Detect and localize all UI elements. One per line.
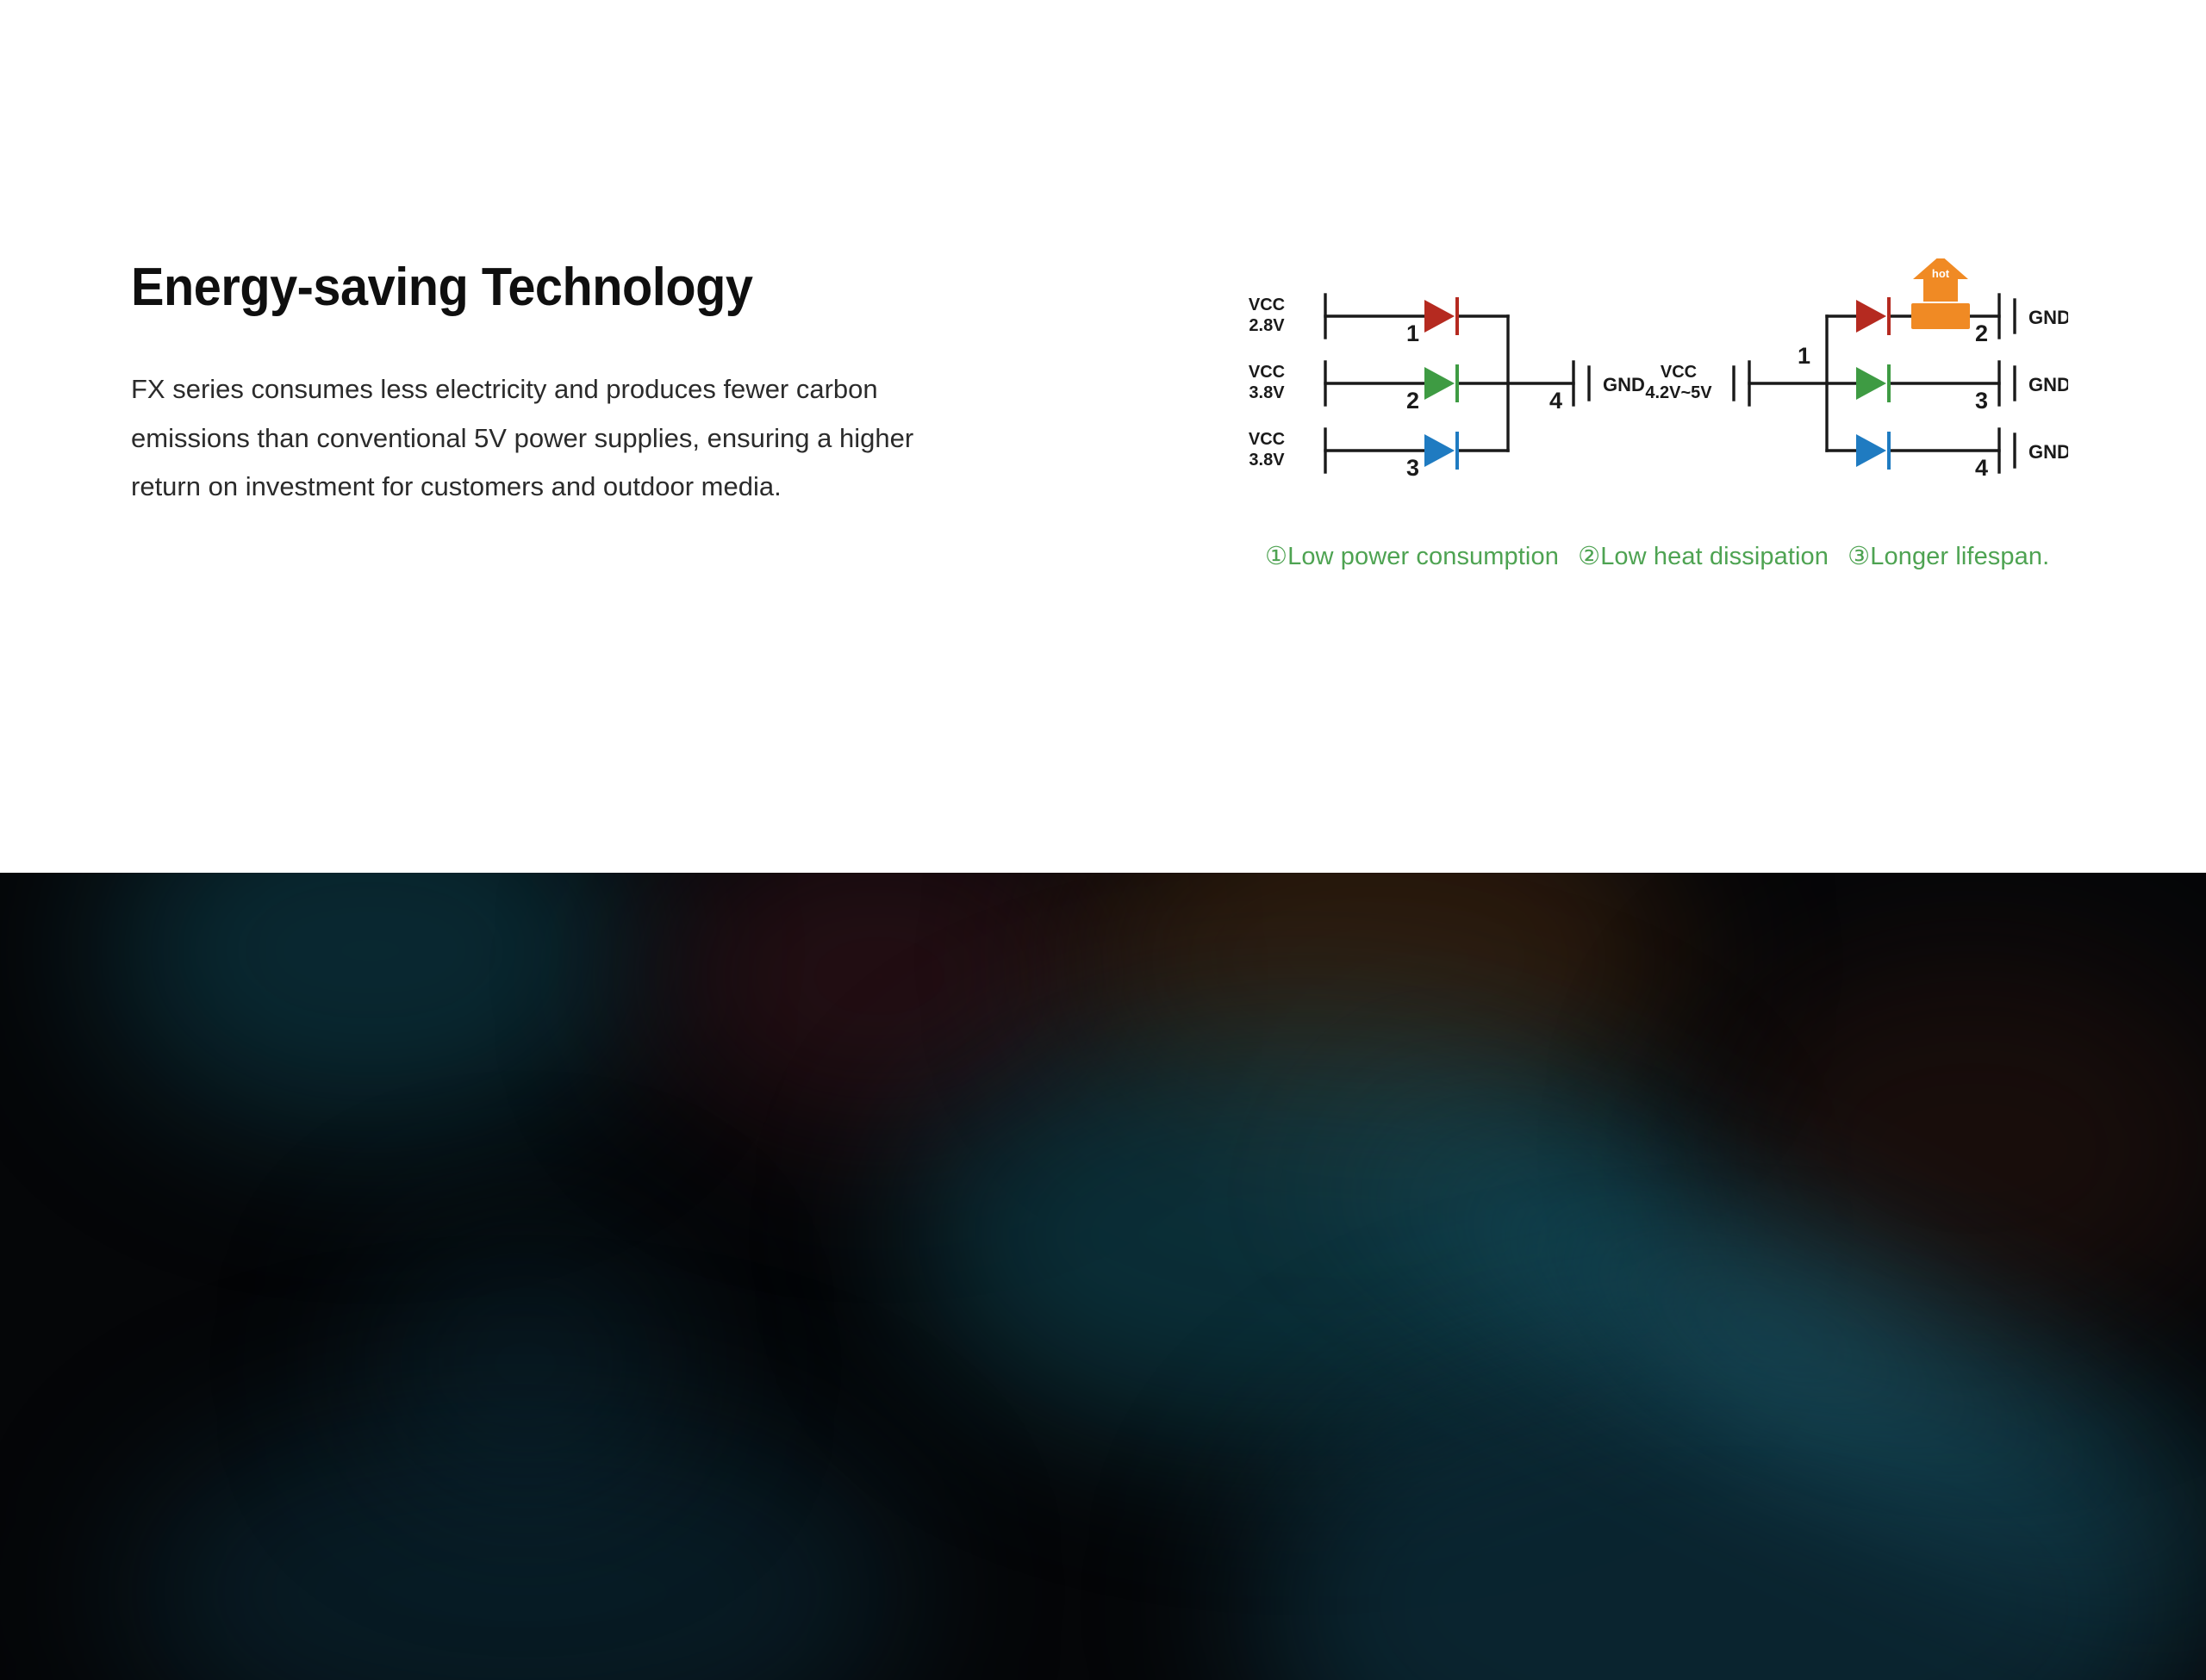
page-title: Energy-saving Technology <box>131 258 949 317</box>
diode-blue-right <box>1856 432 1889 470</box>
diode-red-right <box>1856 297 1889 335</box>
energy-text-block: Energy-saving Technology FX series consu… <box>131 258 1010 511</box>
diode-green-right <box>1856 364 1889 402</box>
pin-number-2: 2 <box>1406 388 1419 414</box>
pin-number-3: 3 <box>1406 455 1419 481</box>
pin-number-r4: 4 <box>1975 455 1988 481</box>
hot-badge-text: hot <box>1932 267 1950 280</box>
energy-body-copy: FX series consumes less electricity and … <box>131 365 980 511</box>
pin-number-r3: 3 <box>1975 388 1988 414</box>
diode-green-left <box>1424 364 1457 402</box>
gnd-label-left: GND <box>1603 374 1645 395</box>
vcc-value-3: 3.8V <box>1249 451 1285 470</box>
bokeh-glow <box>103 873 638 1131</box>
resistor-block <box>1911 303 1970 329</box>
vcc-value-1: 2.8V <box>1249 316 1285 335</box>
benefit-item-2: ②Low heat dissipation <box>1578 543 1829 570</box>
vcc-label-1a: VCC <box>1249 296 1285 314</box>
bokeh-glow <box>371 1235 681 1493</box>
pin-number-r1: 1 <box>1798 343 1810 369</box>
gnd-label-r1: GND <box>2028 307 2068 328</box>
energy-saving-section: Energy-saving Technology FX series consu… <box>0 0 2206 873</box>
gnd-label-r2: GND <box>2028 374 2068 395</box>
pin-number-1: 1 <box>1406 320 1419 346</box>
pin-number-r2: 2 <box>1975 320 1988 346</box>
heat-dissipation-section: Signal In Signal Out power in power out <box>0 873 2206 1680</box>
vcc-value-2: 3.8V <box>1249 383 1285 402</box>
diode-red-left <box>1424 297 1457 335</box>
benefits-caption: ①Low power consumption ②Low heat dissipa… <box>1265 541 2061 571</box>
hot-arrow-icon: hot <box>1913 258 1968 302</box>
pin-number-4: 4 <box>1549 388 1562 414</box>
vcc-label-2a: VCC <box>1249 363 1285 382</box>
bokeh-glow <box>129 1407 905 1680</box>
vcc-label-right: VCC <box>1661 363 1697 382</box>
light-streak <box>1266 1009 2206 1680</box>
vcc-label-3a: VCC <box>1249 430 1285 449</box>
bokeh-glow <box>655 873 1103 1131</box>
gnd-label-r3: GND <box>2028 441 2068 463</box>
vcc-value-right: 4.2V~5V <box>1645 383 1712 402</box>
benefit-item-3: ③Longer lifespan. <box>1848 543 2049 570</box>
benefit-item-1: ①Low power consumption <box>1265 543 1559 570</box>
diode-blue-left <box>1424 432 1457 470</box>
